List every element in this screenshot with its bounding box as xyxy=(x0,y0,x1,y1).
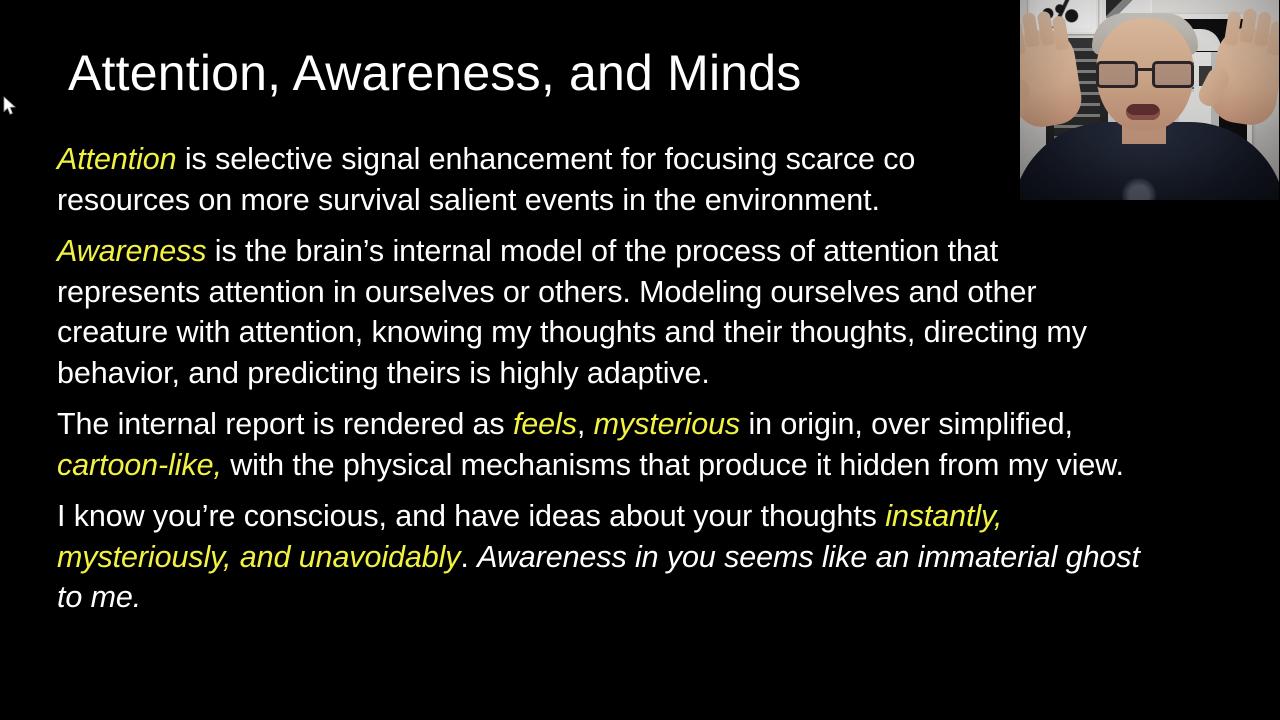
paragraph-i-know-you: I know you’re conscious, and have ideas … xyxy=(57,496,1149,618)
keyword-mysterious: mysterious xyxy=(594,407,740,441)
eyeglasses-left-lens xyxy=(1096,61,1138,88)
internal-report-text-1: The internal report is rendered as xyxy=(57,407,513,441)
thumb xyxy=(1018,77,1031,120)
mouse-pointer-icon xyxy=(3,96,17,116)
eyeglasses-icon xyxy=(1094,61,1196,83)
paragraph-attention: Attention is selective signal enhancemen… xyxy=(57,139,1149,220)
internal-report-text-2: in origin, over simplified, xyxy=(740,407,1073,441)
presenter-mouth xyxy=(1126,104,1160,120)
keyword-cartoon-like: cartoon-like, xyxy=(57,448,222,482)
page-title: Attention, Awareness, and Minds xyxy=(68,44,802,102)
paragraph-awareness-text: is the brain’s internal model of the pro… xyxy=(57,234,1087,390)
keyword-attention: Attention xyxy=(57,142,177,176)
eyeglasses-right-lens xyxy=(1152,61,1194,88)
internal-report-comma: , xyxy=(577,407,594,441)
paragraph-awareness: Awareness is the brain’s internal model … xyxy=(57,231,1149,393)
presenter-webcam-overlay[interactable] xyxy=(1018,0,1280,202)
keyword-awareness: Awareness xyxy=(57,234,206,268)
paragraph-attention-text-1: is selective signal enhancement for focu… xyxy=(177,142,916,176)
paragraph-attention-text-2: resources on more survival salient event… xyxy=(57,183,880,217)
slide-body: Attention is selective signal enhancemen… xyxy=(57,139,1149,618)
i-know-you-period: . xyxy=(460,540,477,574)
paragraph-internal-report: The internal report is rendered as feels… xyxy=(57,404,1149,485)
internal-report-text-3: with the physical mechanisms that produc… xyxy=(222,448,1124,482)
i-know-you-text-1: I know you’re conscious, and have ideas … xyxy=(57,499,885,533)
keyword-feels: feels xyxy=(513,407,577,441)
